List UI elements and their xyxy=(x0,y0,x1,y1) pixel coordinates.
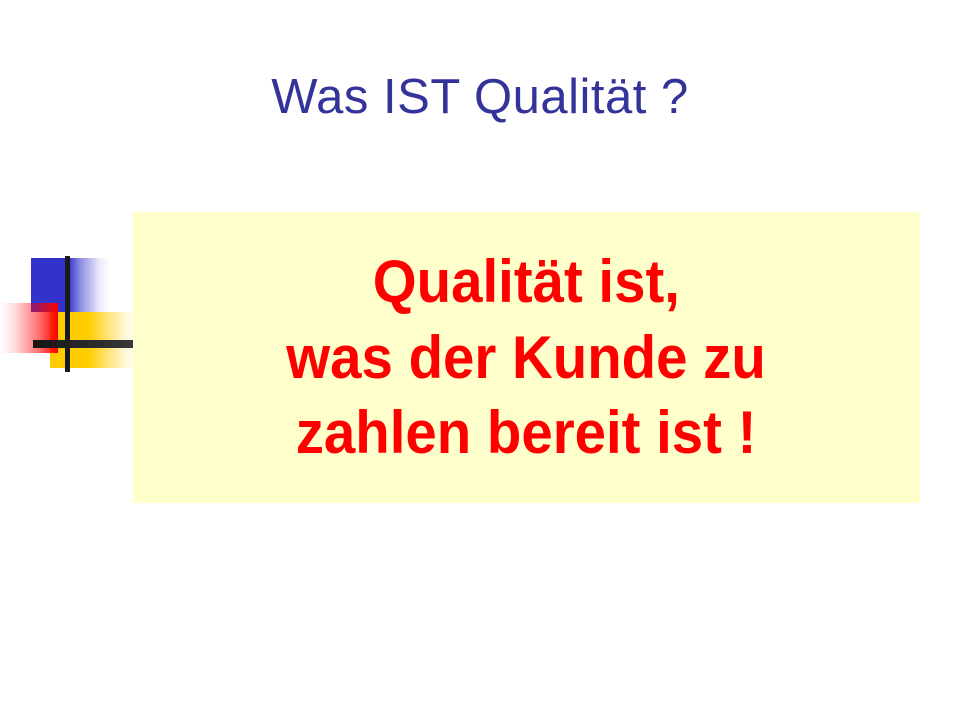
blue-gradient-fade xyxy=(68,258,110,312)
quote-line: zahlen bereit ist ! xyxy=(296,395,757,471)
presentation-slide: Was IST Qualität ? Qualität ist, was der… xyxy=(0,0,960,720)
quote-line: Qualität ist, xyxy=(373,244,680,320)
cross-vertical-bar xyxy=(65,256,70,372)
cross-horizontal-bar xyxy=(33,340,135,348)
decorative-squares-cross-icon xyxy=(0,250,145,380)
quote-callout-box: Qualität ist, was der Kunde zu zahlen be… xyxy=(133,212,920,503)
quote-line: was der Kunde zu xyxy=(287,320,766,396)
page-title: Was IST Qualität ? xyxy=(0,72,960,123)
